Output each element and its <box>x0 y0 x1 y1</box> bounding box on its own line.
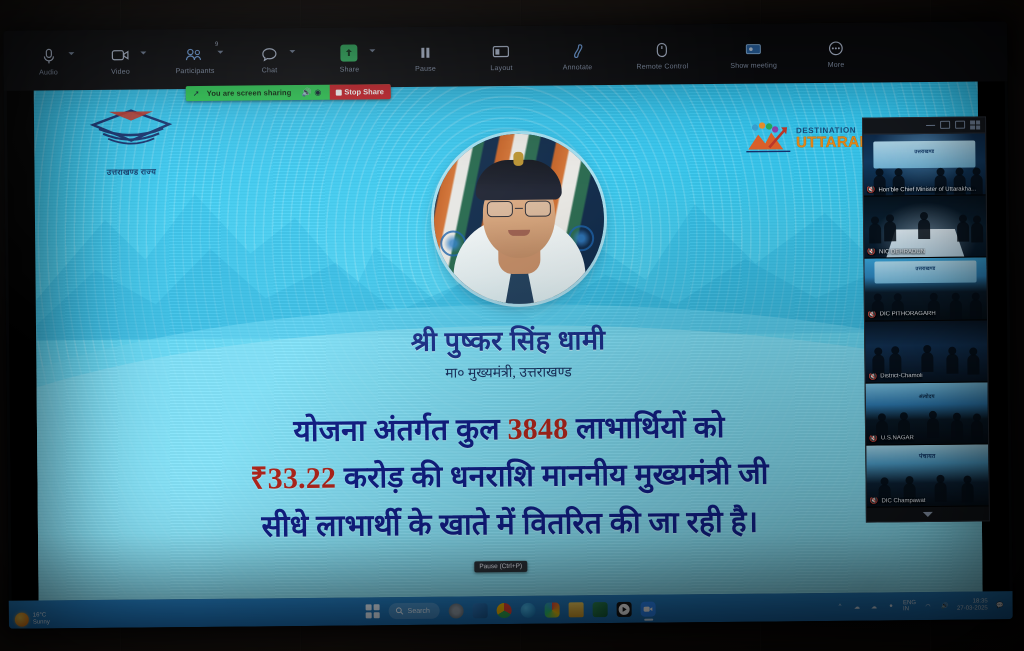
stop-share-button[interactable]: Stop Share <box>329 84 391 100</box>
toolbar-item-more[interactable]: More <box>813 35 859 70</box>
clock-date: 27-03-2025 <box>957 605 988 611</box>
usb-icon[interactable]: ● <box>886 601 896 611</box>
mic-muted-icon: 🔇 <box>868 311 877 318</box>
message-text: योजना अंतर्गत कुल <box>293 413 507 448</box>
thumbnail-participant-4[interactable]: अंत्योदय 🔇 U.S.NAGAR <box>866 382 989 445</box>
toolbar-label: Participants <box>176 67 215 74</box>
toolbar-label: Layout <box>490 64 512 71</box>
state-emblem-caption: उत्तराखण्ड राज्य <box>76 166 186 178</box>
zoom-icon[interactable] <box>641 601 656 616</box>
input-language[interactable]: ENGIN <box>903 600 916 612</box>
weather-temperature: 16°C <box>33 613 46 619</box>
toolbar-label: More <box>828 61 845 68</box>
toolbar-item-show-meeting[interactable]: Show meeting <box>724 36 783 72</box>
chevron-down-icon[interactable] <box>923 512 933 517</box>
chevron-down-icon[interactable] <box>217 50 223 53</box>
photos-icon[interactable] <box>545 602 560 617</box>
message-text: लाभार्थियों को <box>568 411 725 445</box>
toolbar-label: Pause <box>415 65 436 72</box>
scheme-message-block: योजना अंतर्गत कुल 3848 लाभार्थियों को ₹3… <box>37 401 982 552</box>
participants-icon <box>186 44 204 64</box>
pause-icon <box>419 42 431 62</box>
cm-name-block: श्री पुष्कर सिंह धामी मा० मुख्यमंत्री, उ… <box>36 316 981 386</box>
pen-icon <box>571 41 584 61</box>
thumbnail-strip-header[interactable] <box>863 117 985 134</box>
taskbar-center-group[interactable]: Search <box>366 601 656 620</box>
network-icon[interactable]: ☁ <box>852 602 862 612</box>
television-display: Audio Video 9 Participants <box>3 21 1013 629</box>
thumbnail-label: 🔇 District-Chamoli <box>868 373 922 381</box>
thumbnail-label: 🔇 DIC PITHORAGARH <box>868 310 936 318</box>
participant-thumbnail-strip[interactable]: उत्तराखण्ड 🔇 Hon'ble Chief Minister of U… <box>862 116 990 522</box>
mic-muted-icon: 🔇 <box>869 435 878 442</box>
microphone-icon <box>42 46 55 66</box>
speaker-icon[interactable]: 🔊 <box>301 88 312 97</box>
shared-presentation-slide: उत्तराखण्ड राज्य DESTINATION UTTARAKHAND <box>34 71 983 600</box>
message-highlight: 3848 <box>507 412 568 446</box>
sun-icon <box>15 613 29 627</box>
layout-icon <box>493 41 510 61</box>
uttarakhand-state-emblem: उत्तराखण्ड राज्य <box>76 107 187 178</box>
edge-icon[interactable] <box>521 602 536 617</box>
onedrive-icon[interactable]: ☁ <box>869 601 879 611</box>
chevron-down-icon[interactable] <box>140 51 146 54</box>
state-emblem-icon <box>83 107 179 160</box>
file-explorer-icon[interactable] <box>473 603 488 618</box>
message-line-3: सीधे लाभार्थी के खाते में वितरित की जा र… <box>38 496 982 552</box>
show-meeting-icon <box>745 39 761 59</box>
share-screen-icon <box>341 43 358 63</box>
sound-toggle-icon[interactable]: ◉ <box>312 88 323 97</box>
toolbar-item-chat[interactable]: Chat <box>246 41 292 76</box>
message-highlight: ₹33.22 <box>250 462 336 496</box>
toolbar-item-participants[interactable]: 9 Participants <box>169 41 220 76</box>
weather-condition: Sunny <box>33 619 50 625</box>
chevron-down-icon[interactable] <box>369 49 375 52</box>
search-placeholder: Search <box>408 607 430 614</box>
thumbnail-participant-0[interactable]: उत्तराखण्ड 🔇 Hon'ble Chief Minister of U… <box>863 133 986 196</box>
thumbnail-participant-1[interactable]: 🔇 NIC DEHRADUN <box>864 195 987 258</box>
toolbar-item-audio[interactable]: Audio <box>25 43 71 78</box>
toolbar-label: Chat <box>262 67 278 74</box>
thumbnail-participant-5[interactable]: पंचायत 🔇 DIC Champawat <box>866 444 989 507</box>
stop-share-label: Stop Share <box>344 87 384 96</box>
mic-muted-icon: 🔇 <box>870 498 879 505</box>
cm-name: श्री पुष्कर सिंह धामी <box>36 316 980 362</box>
sharing-notice-text: You are screen sharing <box>207 88 292 98</box>
wifi-icon[interactable]: ◠ <box>923 601 933 611</box>
more-ellipsis-icon <box>828 38 843 58</box>
share-arrow-icon: ➚ <box>191 89 202 98</box>
thumbnail-label: 🔇 U.S.NAGAR <box>869 435 914 442</box>
weather-widget[interactable]: 16°C Sunny <box>15 612 50 626</box>
zoom-meeting-toolbar[interactable]: Audio Video 9 Participants <box>3 21 1008 91</box>
speaker-view-icon[interactable] <box>955 121 965 129</box>
mic-muted-icon: 🔇 <box>867 187 876 194</box>
start-button-icon[interactable] <box>366 604 380 618</box>
thumbnail-label: 🔇 DIC Champawat <box>870 497 926 505</box>
room-photo: Audio Video 9 Participants <box>0 0 1024 651</box>
folder-icon[interactable] <box>569 602 584 617</box>
chevron-down-icon[interactable] <box>68 52 74 55</box>
toolbar-item-annotate[interactable]: Annotate <box>554 38 600 73</box>
media-player-icon[interactable] <box>617 601 632 616</box>
participants-count: 9 <box>215 41 218 47</box>
toolbar-label: Annotate <box>563 64 593 71</box>
destination-mountain-icon <box>745 121 791 155</box>
volume-icon[interactable]: 🔊 <box>940 601 950 611</box>
message-text: सीधे लाभार्थी के खाते में वितरित की जा र… <box>261 505 758 543</box>
toolbar-label: Remote Control <box>636 63 688 70</box>
gallery-view-icon[interactable] <box>970 120 980 129</box>
search-icon <box>396 607 404 615</box>
clock[interactable]: 18:35 27-03-2025 <box>957 598 988 613</box>
pause-tooltip: Pause (Ctrl+P) <box>474 561 527 573</box>
mic-muted-icon: 🔇 <box>868 373 877 380</box>
toolbar-label: Share <box>340 66 360 73</box>
system-tray[interactable]: ^ ☁ ☁ ● ENGIN ◠ 🔊 18:35 27-03-2025 💬 <box>835 598 1005 614</box>
toolbar-item-video[interactable]: Video <box>97 42 143 77</box>
toolbar-label: Video <box>111 68 130 75</box>
stop-square-icon <box>335 89 341 95</box>
screen-sharing-status-bar: ➚ You are screen sharing 🔊 ◉ Stop Share <box>186 84 391 101</box>
toolbar-item-remote-control[interactable]: Remote Control <box>630 37 694 73</box>
toolbar-item-layout[interactable]: Layout <box>478 38 524 73</box>
toolbar-label: Audio <box>39 69 58 76</box>
message-text: करोड़ की धनराशि माननीय मुख्यमंत्री जी <box>336 458 769 495</box>
portrait-glasses <box>487 200 551 218</box>
notifications-icon[interactable]: 💬 <box>995 600 1005 610</box>
maximize-icon[interactable] <box>940 121 950 129</box>
camera-icon <box>111 45 129 65</box>
mic-muted-icon: 🔇 <box>867 249 876 256</box>
toolbar-item-pause[interactable]: Pause <box>402 39 448 74</box>
chat-bubble-icon <box>261 44 277 64</box>
minimize-icon[interactable] <box>926 125 935 127</box>
chrome-icon[interactable] <box>497 602 512 617</box>
chevron-down-icon[interactable] <box>289 50 295 53</box>
toolbar-item-share[interactable]: Share <box>326 40 372 75</box>
clock-time: 18:35 <box>973 598 988 604</box>
thumbnail-label: 🔇 Hon'ble Chief Minister of Uttarakha... <box>867 186 977 194</box>
portrait-cap <box>475 159 561 200</box>
chief-minister-portrait <box>433 133 605 305</box>
thumbnail-participant-2[interactable]: उत्तराखण्ड 🔇 DIC PITHORAGARH <box>864 258 987 321</box>
thumbnail-scroll-down[interactable] <box>867 507 989 522</box>
thumbnail-label: 🔇 NIC DEHRADUN <box>867 248 925 256</box>
tray-expand-icon[interactable]: ^ <box>835 602 845 612</box>
search-input[interactable]: Search <box>389 603 440 619</box>
settings-icon[interactable] <box>449 603 464 618</box>
mouse-icon <box>657 40 668 60</box>
excel-icon[interactable] <box>593 602 608 617</box>
thumbnail-participant-3[interactable]: 🔇 District-Chamoli <box>865 320 988 383</box>
toolbar-label: Show meeting <box>730 62 777 69</box>
